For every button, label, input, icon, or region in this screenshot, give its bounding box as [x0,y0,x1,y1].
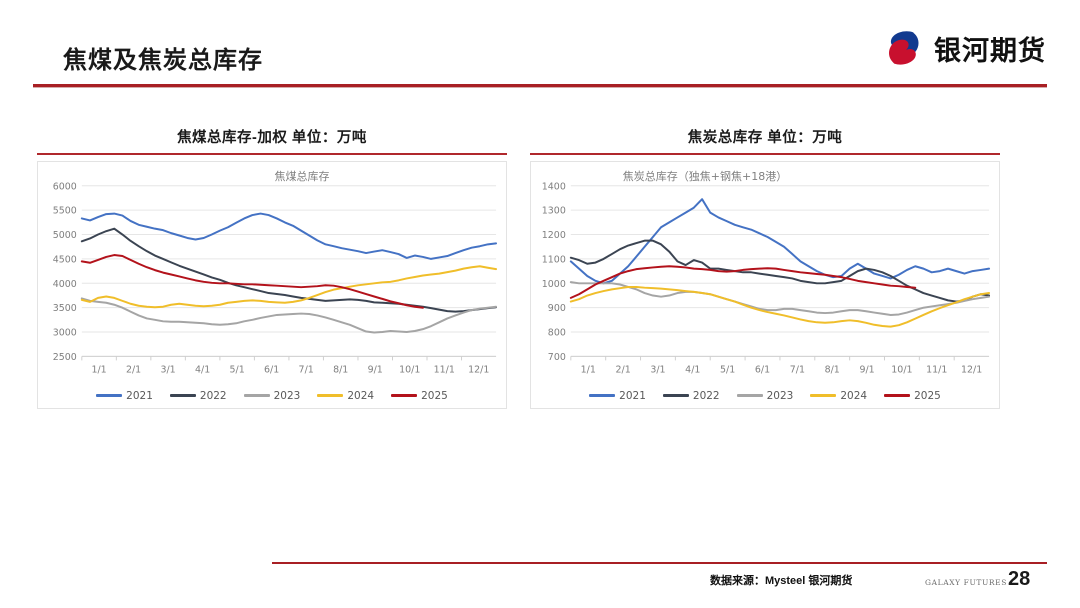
svg-text:800: 800 [548,327,566,338]
svg-text:7/1: 7/1 [790,364,805,375]
legend-item-2022[interactable]: 2022 [663,390,720,402]
chart-inner-title-left: 焦煤总库存 [38,168,506,184]
footer-source: 数据来源：Mysteel 银河期货 [710,572,852,588]
svg-text:12/1: 12/1 [468,364,489,375]
svg-text:12/1: 12/1 [961,364,982,375]
legend-item-2021[interactable]: 2021 [96,390,153,402]
legend-item-2024[interactable]: 2024 [317,390,374,402]
svg-text:4000: 4000 [53,278,77,289]
svg-text:4500: 4500 [53,254,77,265]
svg-text:3/1: 3/1 [160,364,175,375]
svg-text:8/1: 8/1 [825,364,840,375]
chart-legend-right: 2021 2022 2023 2024 2025 [531,390,999,402]
legend-label-2021: 2021 [619,390,646,402]
chart-coke: 焦炭总库存（独焦+钢焦+18港） 70080090010001100120013… [530,161,1000,409]
svg-text:6/1: 6/1 [755,364,770,375]
page-number: 28 [1008,568,1030,591]
svg-text:1100: 1100 [542,254,566,265]
svg-text:11/1: 11/1 [926,364,947,375]
svg-text:1300: 1300 [542,205,566,216]
legend-label-2022: 2022 [200,390,227,402]
svg-text:4/1: 4/1 [685,364,700,375]
svg-text:10/1: 10/1 [399,364,420,375]
svg-text:5500: 5500 [53,205,77,216]
svg-text:11/1: 11/1 [434,364,455,375]
svg-text:5000: 5000 [53,230,77,241]
slide-page: 焦煤及焦炭总库存 银河期货 焦煤总库存-加权 单位：万吨 焦煤总库存 25003… [0,0,1080,608]
panel-title-left: 焦煤总库存-加权 单位：万吨 [37,128,507,150]
svg-text:3/1: 3/1 [650,364,665,375]
svg-text:9/1: 9/1 [859,364,874,375]
svg-text:7/1: 7/1 [299,364,314,375]
svg-text:5/1: 5/1 [720,364,735,375]
legend-item-2023[interactable]: 2023 [244,390,301,402]
svg-text:3000: 3000 [53,327,77,338]
panel-underline-left [37,153,507,155]
legend-label-2022: 2022 [693,390,720,402]
legend-label-2023: 2023 [767,390,794,402]
legend-swatch-2021 [589,394,615,397]
legend-swatch-2025 [391,394,417,397]
legend-item-2025[interactable]: 2025 [884,390,941,402]
logo-text: 银河期货 [934,29,1046,68]
svg-text:9/1: 9/1 [368,364,383,375]
legend-label-2025: 2025 [914,390,941,402]
chart-plot-left: 250030003500400045005000550060001/12/13/… [38,162,506,408]
panel-coking-coal: 焦煤总库存-加权 单位：万吨 焦煤总库存 2500300035004000450… [37,128,507,408]
legend-item-2022[interactable]: 2022 [170,390,227,402]
galaxy-swirl-icon [883,29,925,67]
legend-item-2024[interactable]: 2024 [810,390,867,402]
svg-text:3500: 3500 [53,303,77,314]
svg-text:700: 700 [548,351,566,362]
legend-swatch-2024 [317,394,343,397]
legend-swatch-2021 [96,394,122,397]
legend-item-2023[interactable]: 2023 [737,390,794,402]
svg-text:6/1: 6/1 [264,364,279,375]
page-title: 焦煤及焦炭总库存 [63,40,263,75]
company-logo: 银河期货 [883,26,1046,70]
svg-text:2/1: 2/1 [615,364,630,375]
legend-label-2024: 2024 [840,390,867,402]
legend-label-2021: 2021 [126,390,153,402]
legend-swatch-2024 [810,394,836,397]
svg-text:1/1: 1/1 [581,364,596,375]
svg-text:4/1: 4/1 [195,364,210,375]
legend-swatch-2022 [170,394,196,397]
legend-swatch-2023 [244,394,270,397]
legend-label-2025: 2025 [421,390,448,402]
header-rule-secondary [33,87,1047,88]
legend-label-2023: 2023 [274,390,301,402]
panel-coke: 焦炭总库存 单位：万吨 焦炭总库存（独焦+钢焦+18港） 70080090010… [530,128,1000,408]
legend-label-2024: 2024 [347,390,374,402]
svg-text:900: 900 [548,303,566,314]
footer-rule [272,562,1047,564]
footer-brand: GALAXY FUTURES [925,578,1007,587]
svg-text:1200: 1200 [542,230,566,241]
svg-text:5/1: 5/1 [230,364,245,375]
svg-text:1/1: 1/1 [91,364,106,375]
svg-text:2/1: 2/1 [126,364,141,375]
chart-legend-left: 2021 2022 2023 2024 2025 [38,390,506,402]
legend-swatch-2022 [663,394,689,397]
svg-text:8/1: 8/1 [333,364,348,375]
panel-underline-right [530,153,1000,155]
chart-inner-title-right: 焦炭总库存（独焦+钢焦+18港） [531,168,999,184]
chart-plot-right: 700800900100011001200130014001/12/13/14/… [531,162,999,408]
svg-text:10/1: 10/1 [891,364,912,375]
svg-text:2500: 2500 [53,351,77,362]
legend-swatch-2025 [884,394,910,397]
panel-title-right: 焦炭总库存 单位：万吨 [530,128,1000,150]
legend-swatch-2023 [737,394,763,397]
chart-coking-coal: 焦煤总库存 250030003500400045005000550060001/… [37,161,507,409]
svg-text:1000: 1000 [542,278,566,289]
legend-item-2021[interactable]: 2021 [589,390,646,402]
legend-item-2025[interactable]: 2025 [391,390,448,402]
